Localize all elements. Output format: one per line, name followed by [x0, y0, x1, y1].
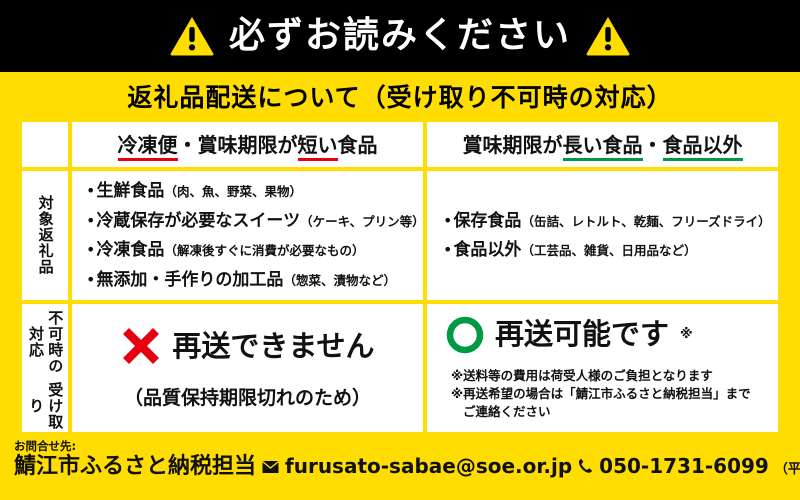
list-item-main: 冷凍食品 [96, 241, 164, 261]
list-item: • 食品以外 （工芸品、雑貨、日用品など） [443, 241, 772, 261]
note-resend-request: ※再送希望の場合は「鯖江市ふるさと納税担当」まで [451, 385, 751, 403]
list-item-main: 食品以外 [453, 241, 521, 261]
warning-triangle-icon [169, 15, 215, 57]
column-header-part: ・賞味期限が [178, 133, 298, 157]
list-item: • 無添加・手作りの加工品 （惣菜、漬物など） [86, 271, 417, 291]
table-corner-cell [22, 122, 68, 167]
list-item-sub: （惣菜、漬物など） [283, 274, 396, 288]
result-subtext-no-resend: （品質保持期限切れのため） [124, 383, 371, 410]
list-item-main: 生鮮食品 [96, 182, 164, 202]
poster-root: 必ずお読みください 返礼品配送について（受け取り不可時の対応） 冷凍便・賞味期限… [0, 0, 800, 500]
column-header-part: 長い食品 [563, 133, 643, 161]
list-item-sub: （工芸品、雑貨、日用品など） [521, 244, 696, 258]
subtitle-text: 返礼品配送について（受け取り不可時の対応） [127, 85, 672, 110]
list-item-sub: （肉、魚、野菜、果物） [164, 185, 302, 199]
cell-response-short: 再送できません （品質保持期限切れのため） [72, 304, 423, 433]
row-label-text: 受け取り [26, 381, 64, 432]
list-item-main: 保存食品 [453, 212, 521, 232]
footer-email[interactable]: furusato-sabae@soe.or.jp [285, 455, 572, 477]
asterisk-marker: ※ [680, 327, 693, 342]
column-header-part: 食品 [338, 133, 378, 157]
list-item-main: 冷蔵保存が必要なスイーツ [96, 212, 300, 232]
column-header-part: 食品以外 [663, 133, 743, 161]
info-table: 冷凍便・賞味期限が短い食品 賞味期限が長い食品・食品以外 対象返礼品 • 生鮮食… [22, 122, 778, 432]
list-item-sub: （解凍後すぐに消費が必要なもの） [164, 244, 364, 258]
footer-contact: お問合せ先: 鯖江市ふるさと納税担当 furusato-sabae@soe.or… [0, 436, 800, 500]
cell-target-items-short: • 生鮮食品 （肉、魚、野菜、果物） • 冷蔵保存が必要なスイーツ （ケーキ、プ… [72, 171, 423, 300]
list-item: • 冷凍食品 （解凍後すぐに消費が必要なもの） [86, 241, 417, 261]
warning-triangle-icon [585, 15, 631, 57]
column-header-part: ・ [643, 133, 663, 157]
bullet-dot-icon: • [443, 213, 452, 229]
phone-icon [578, 458, 593, 474]
header-band: 必ずお読みください [0, 0, 800, 72]
column-header-long-shelf-life: 賞味期限が長い食品・食品以外 [427, 122, 778, 167]
list-item: • 生鮮食品 （肉、魚、野菜、果物） [86, 182, 417, 202]
column-header-part: 冷凍便 [118, 133, 178, 161]
result-text-no-resend: 再送できません [172, 332, 374, 361]
circle-mark-icon [445, 315, 485, 355]
footer-phone[interactable]: 050-1731-6099 [599, 455, 769, 477]
envelope-icon [262, 460, 279, 474]
subtitle-band: 返礼品配送について（受け取り不可時の対応） [0, 72, 800, 122]
bullet-dot-icon: • [86, 213, 95, 229]
column-header-part: 短い [298, 133, 338, 161]
row-label-target-items: 対象返礼品 [22, 171, 68, 300]
list-item-sub: （缶詰、レトルト、乾麺、フリーズドライ） [521, 215, 770, 229]
bullet-dot-icon: • [443, 242, 452, 258]
list-item-main: 無添加・手作りの加工品 [96, 271, 283, 291]
bullet-dot-icon: • [86, 183, 95, 199]
bullet-dot-icon: • [86, 272, 95, 288]
x-mark-icon [120, 325, 162, 367]
list-item: • 保存食品 （缶詰、レトルト、乾麺、フリーズドライ） [443, 212, 772, 232]
column-header-short-shelf-life: 冷凍便・賞味期限が短い食品 [72, 122, 423, 167]
cell-response-long: 再送可能です ※ ※送料等の費用は荷受人様のご負担となります ※再送希望の場合は… [427, 304, 778, 433]
column-header-part: 賞味期限が [463, 133, 563, 157]
note-resend-request-cont: ご連絡ください [451, 403, 551, 421]
cell-target-items-long: • 保存食品 （缶詰、レトルト、乾麺、フリーズドライ） • 食品以外 （工芸品、… [427, 171, 778, 300]
list-item: • 冷蔵保存が必要なスイーツ （ケーキ、プリン等） [86, 212, 417, 232]
footer-organization: 鯖江市ふるさと納税担当 [14, 455, 256, 479]
bullet-dot-icon: • [86, 242, 95, 258]
result-text-resend-ok: 再送可能です [495, 320, 669, 349]
list-item-sub: （ケーキ、プリン等） [300, 215, 423, 229]
row-label-text: 対象返礼品 [35, 195, 54, 275]
footer-hours: （平日10:00-17:00対応） [775, 463, 800, 477]
page-title: 必ずお読みください [229, 18, 571, 54]
row-label-text: 不可時の対応 [26, 304, 64, 381]
note-shipping-cost: ※送料等の費用は荷受人様のご負担となります [451, 367, 751, 385]
footer-label: お問合せ先: [14, 440, 786, 454]
row-label-response: 不可時の対応 受け取り [22, 304, 68, 433]
